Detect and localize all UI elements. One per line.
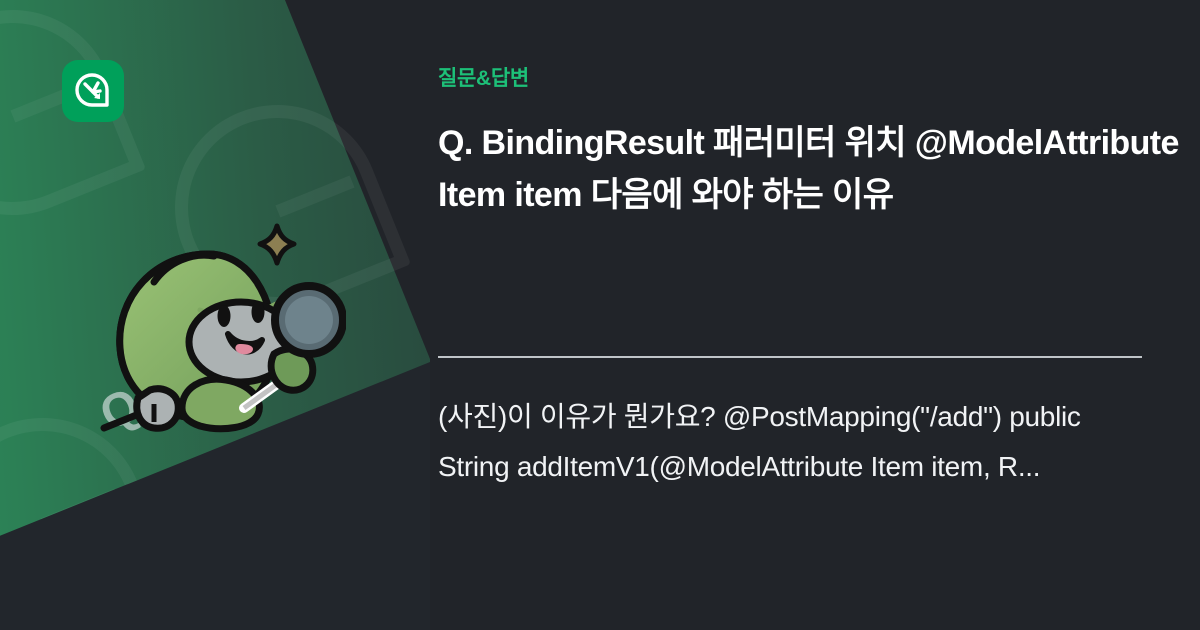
body-excerpt: (사진)이 이유가 뭔가요? @PostMapping("/add") publ…	[438, 392, 1138, 492]
content-area: 질문&답변 Q. BindingResult 패러미터 위치 @ModelAtt…	[438, 0, 1200, 630]
cat-mascot-with-magnifier-icon	[96, 212, 346, 442]
divider	[438, 356, 1142, 358]
og-share-card: QUESTION	[0, 0, 1200, 630]
four-point-sparkle-icon	[260, 226, 294, 263]
page-title: Q. BindingResult 패러미터 위치 @ModelAttribute…	[438, 118, 1200, 221]
app-logo-badge[interactable]	[62, 60, 124, 122]
category-label: 질문&답변	[438, 62, 529, 92]
inflearn-leaf-pin-icon	[73, 71, 113, 111]
artwork-panel: QUESTION	[0, 0, 430, 630]
